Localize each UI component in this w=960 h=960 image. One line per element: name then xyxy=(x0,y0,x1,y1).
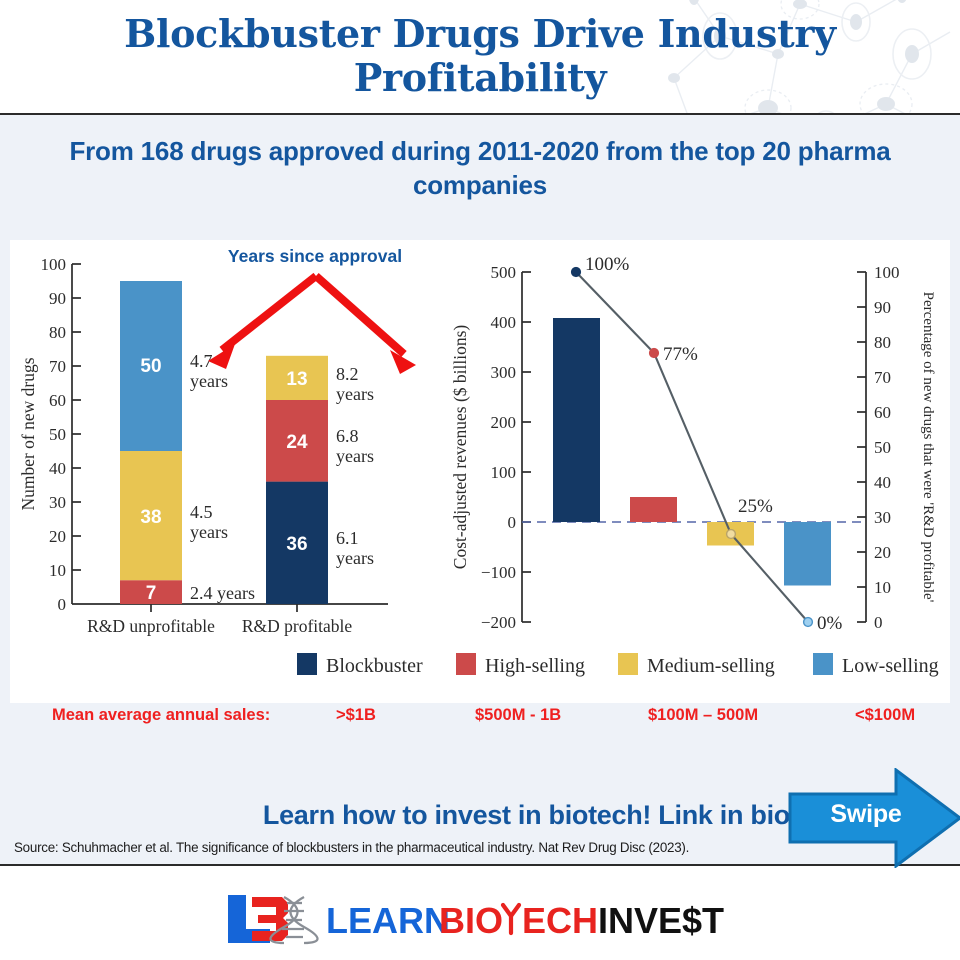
y-tick-label: 10 xyxy=(49,561,66,580)
years-since-approval-label: Years since approval xyxy=(228,246,402,266)
x-category-label: R&D unprofitable xyxy=(87,616,215,636)
segment-years: years xyxy=(336,548,374,568)
line-marker xyxy=(650,349,659,358)
y-tick-label: −100 xyxy=(481,563,516,582)
percentage-line xyxy=(576,272,808,622)
logo-word-learn: LEARN xyxy=(326,900,450,941)
y2-tick-label: 40 xyxy=(874,473,891,492)
charts-panel: 100 90 80 70 60 50 40 30 20 10 0 Number … xyxy=(10,240,950,703)
legend-label-low-selling: Low-selling xyxy=(842,655,939,677)
y-tick-label: 0 xyxy=(508,513,517,532)
infographic-page: Blockbuster Drugs Drive Industry Profita… xyxy=(0,0,960,960)
line-point-label: 0% xyxy=(817,613,843,634)
page-title: Blockbuster Drugs Drive Industry Profita… xyxy=(60,12,900,100)
y2-tick-label: 100 xyxy=(874,263,900,282)
y2-tick-label: 30 xyxy=(874,508,891,527)
segment-value: 13 xyxy=(286,369,307,390)
y-tick-label: 500 xyxy=(491,263,517,282)
right-chart-y-axis-label: Cost-adjusted revenues ($ billions) xyxy=(450,325,470,570)
legend-label-blockbuster: Blockbuster xyxy=(326,655,423,677)
segment-value: 50 xyxy=(140,356,161,377)
left-chart: 100 90 80 70 60 50 40 30 20 10 0 Number … xyxy=(18,246,416,636)
logo-word-investing: INVE$TING xyxy=(598,900,726,941)
sales-value-high-selling: $500M - 1B xyxy=(475,706,561,725)
charts-svg: 100 90 80 70 60 50 40 30 20 10 0 Number … xyxy=(10,240,950,703)
y-tick-label: 20 xyxy=(49,527,66,546)
mean-annual-sales-row: Mean average annual sales: >$1B $500M - … xyxy=(0,706,960,740)
y-tick-label: 70 xyxy=(49,357,66,376)
segment-value: 36 xyxy=(286,534,307,555)
segment-value: 24 xyxy=(286,432,308,453)
y2-tick-label: 80 xyxy=(874,333,891,352)
segment-years: 6.1 xyxy=(336,528,359,548)
segment-years: years xyxy=(336,384,374,404)
line-point-label: 100% xyxy=(585,254,630,275)
y-tick-label: 0 xyxy=(58,595,67,614)
line-point-label: 77% xyxy=(663,344,698,365)
legend-label-medium-selling: Medium-selling xyxy=(647,655,775,677)
y2-tick-label: 10 xyxy=(874,578,891,597)
sales-value-low-selling: <$100M xyxy=(855,706,915,725)
legend-swatch-medium-selling xyxy=(618,653,638,675)
segment-years: 8.2 xyxy=(336,364,359,384)
y-tick-label: 300 xyxy=(491,363,517,382)
legend-swatch-blockbuster xyxy=(297,653,317,675)
y-tick-label: 60 xyxy=(49,391,66,410)
y2-tick-label: 70 xyxy=(874,368,891,387)
segment-years: years xyxy=(336,446,374,466)
logo-word-ech: ECH xyxy=(522,900,598,941)
y2-tick-label: 20 xyxy=(874,543,891,562)
line-marker xyxy=(804,618,813,627)
y-tick-label: 90 xyxy=(49,289,66,308)
segment-years: 6.8 xyxy=(336,426,359,446)
page-subtitle: From 168 drugs approved during 2011-2020… xyxy=(60,134,900,203)
antibody-icon xyxy=(503,905,519,933)
segment-value: 7 xyxy=(146,583,157,604)
right-chart: 500 400 300 200 100 0 −100 −200 Cost-adj… xyxy=(450,254,936,634)
segment-years: 2.4 years xyxy=(190,583,255,603)
right-chart-y2-axis-label: Percentage of new drugs that were 'R&D p… xyxy=(920,292,936,603)
revenue-bar xyxy=(553,318,600,522)
line-marker xyxy=(727,530,736,539)
left-chart-y-axis-label: Number of new drugs xyxy=(18,357,38,510)
y-tick-label: 30 xyxy=(49,493,66,512)
segment-years: years xyxy=(190,522,228,542)
y2-tick-label: 0 xyxy=(874,613,883,632)
segment-years: years xyxy=(190,371,228,391)
sales-row-label: Mean average annual sales: xyxy=(52,706,270,725)
revenue-bar xyxy=(784,522,831,586)
y-tick-label: 40 xyxy=(49,459,66,478)
y-tick-label: 100 xyxy=(491,463,517,482)
segment-value: 38 xyxy=(140,507,161,528)
header-divider xyxy=(0,113,960,115)
x-category-label: R&D profitable xyxy=(242,616,353,636)
y-tick-label: 80 xyxy=(49,323,66,342)
legend-label-high-selling: High-selling xyxy=(485,655,585,677)
segment-years: 4.5 xyxy=(190,502,213,522)
logo-word-bio: BIO xyxy=(439,900,503,941)
legend-swatch-low-selling xyxy=(813,653,833,675)
swipe-label: Swipe xyxy=(818,800,914,829)
y2-tick-label: 60 xyxy=(874,403,891,422)
logo-letter-b xyxy=(252,897,288,941)
chart-legend: Blockbuster High-selling Medium-selling … xyxy=(297,653,939,677)
y-tick-label: 200 xyxy=(491,413,517,432)
brand-logo[interactable]: LEARN BIO ECH INVE$TING xyxy=(226,893,726,941)
line-marker xyxy=(572,268,581,277)
source-citation: Source: Schuhmacher et al. The significa… xyxy=(14,840,844,855)
y-tick-label: 400 xyxy=(491,313,517,332)
legend-swatch-high-selling xyxy=(456,653,476,675)
sales-value-medium-selling: $100M – 500M xyxy=(648,706,758,725)
y-tick-label: −200 xyxy=(481,613,516,632)
y-tick-label: 100 xyxy=(41,255,67,274)
sales-value-blockbuster: >$1B xyxy=(336,706,376,725)
y2-tick-label: 90 xyxy=(874,298,891,317)
y2-tick-label: 50 xyxy=(874,438,891,457)
revenue-bar xyxy=(630,497,677,522)
y-tick-label: 50 xyxy=(49,425,66,444)
line-point-label: 25% xyxy=(738,496,773,517)
cta-text: Learn how to invest in biotech! Link in … xyxy=(0,800,790,831)
